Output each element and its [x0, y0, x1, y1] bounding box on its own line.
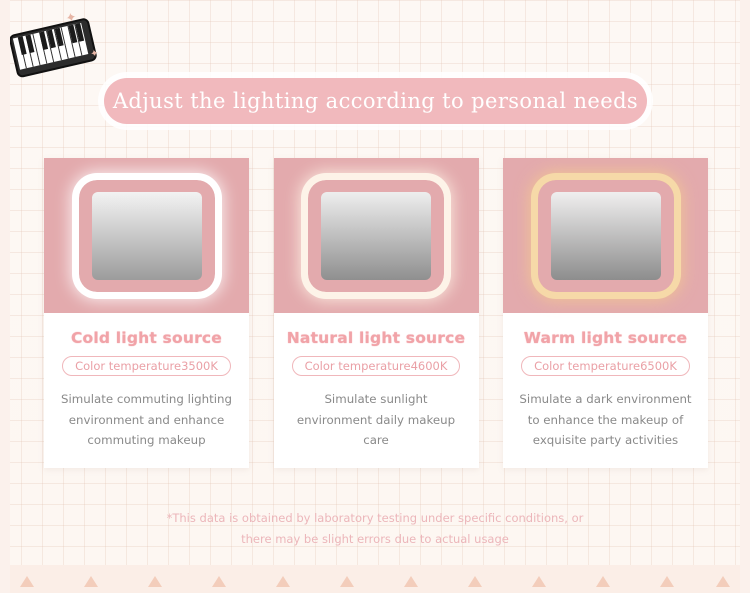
card-title-natural: Natural light source [287, 329, 466, 347]
right-page-edge [740, 0, 750, 593]
light-source-cards: Cold light source Color temperature3500K… [44, 158, 708, 468]
card-temperature-cold: Color temperature3500K [62, 356, 231, 376]
card-temperature-natural: Color temperature4600K [292, 356, 461, 376]
card-image-cold [44, 158, 249, 313]
title-banner: Adjust the lighting according to persona… [104, 78, 647, 124]
footnote-line-1: *This data is obtained by laboratory tes… [0, 508, 750, 529]
card-temperature-warm: Color temperature6500K [521, 356, 690, 376]
lamp-panel-cold [92, 192, 202, 280]
page-title: Adjust the lighting according to persona… [113, 89, 638, 113]
card-warm-light: Warm light source Color temperature6500K… [503, 158, 708, 468]
card-description-cold: Simulate commuting lighting environment … [59, 389, 235, 451]
bottom-strip [0, 565, 750, 593]
card-natural-light: Natural light source Color temperature46… [274, 158, 479, 468]
card-description-natural: Simulate sunlight environment daily make… [288, 389, 464, 451]
lamp-panel-warm [551, 192, 661, 280]
card-description-warm: Simulate a dark environment to enhance t… [518, 389, 694, 451]
lamp-panel-natural [321, 192, 431, 280]
footnote: *This data is obtained by laboratory tes… [0, 508, 750, 551]
card-title-cold: Cold light source [71, 329, 222, 347]
card-image-warm [503, 158, 708, 313]
card-image-natural [274, 158, 479, 313]
footnote-line-2: there may be slight errors due to actual… [0, 529, 750, 550]
card-cold-light: Cold light source Color temperature3500K… [44, 158, 249, 468]
card-title-warm: Warm light source [524, 329, 687, 347]
lamp-glow-natural [308, 180, 444, 292]
lamp-glow-warm [538, 180, 674, 292]
left-page-edge [0, 0, 10, 593]
lamp-glow-cold [79, 180, 215, 292]
